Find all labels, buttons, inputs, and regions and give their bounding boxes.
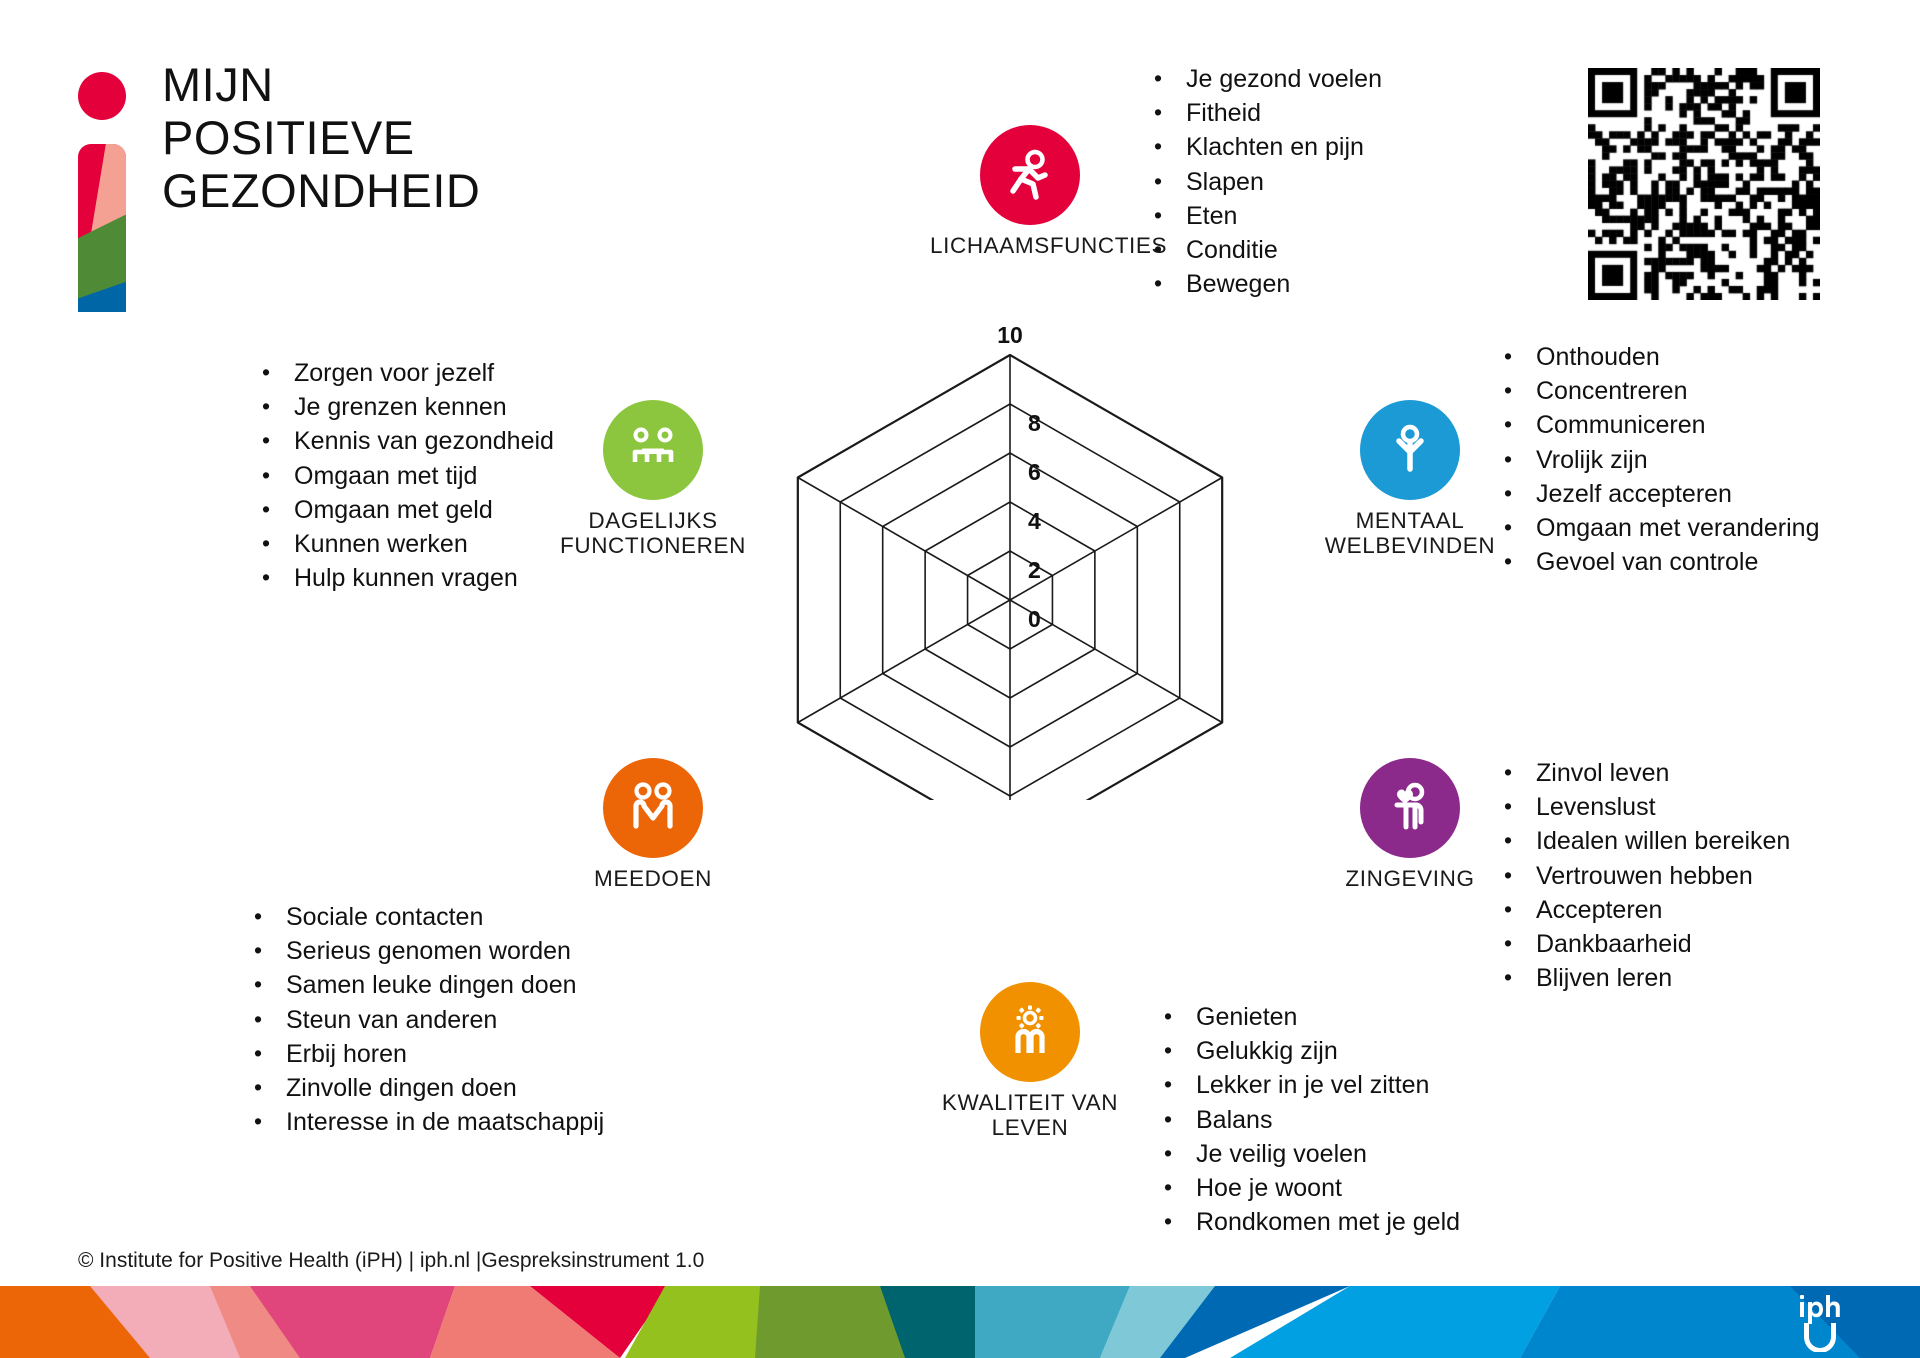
aspect-list-item: Idealen willen bereiken (1500, 824, 1790, 858)
aspect-list-item: Je veilig voelen (1160, 1137, 1460, 1171)
radar-tick-label: 10 (997, 322, 1023, 348)
aspect-list-item: Levenslust (1500, 790, 1790, 824)
domain-node-lichaamsfuncties[interactable]: LICHAAMSFUNCTIES (930, 125, 1130, 258)
two-people-holding-hands-icon (603, 758, 703, 858)
domain-label: ZINGEVING (1310, 866, 1510, 891)
radar-tick-label: 2 (1028, 557, 1041, 583)
domain-label: DAGELIJKS FUNCTIONEREN (553, 508, 753, 558)
radar-tick-label: 6 (1028, 459, 1041, 485)
iph-logo-mark (1790, 1290, 1850, 1352)
logo-dot-icon (78, 72, 126, 120)
aspect-list-item: Interesse in de maatschappij (250, 1105, 604, 1139)
radar-tick-label: 0 (1028, 606, 1041, 632)
aspect-list-kwaliteit-van-leven: GenietenGelukkig zijnLekker in je vel zi… (1160, 1000, 1460, 1239)
aspect-list-item: Je grenzen kennen (258, 390, 554, 424)
aspect-list-item: Omgaan met verandering (1500, 511, 1819, 545)
aspect-list-item: Sociale contacten (250, 900, 604, 934)
aspect-list-item: Serieus genomen worden (250, 934, 604, 968)
aspect-list-item: Kunnen werken (258, 527, 554, 561)
aspect-list-dagelijks-functioneren: Zorgen voor jezelfJe grenzen kennenKenni… (258, 356, 554, 595)
aspect-list-item: Balans (1160, 1103, 1460, 1137)
aspect-list-item: Steun van anderen (250, 1003, 604, 1037)
logo-stem-icon (78, 144, 126, 312)
aspect-list-item: Rondkomen met je geld (1160, 1205, 1460, 1239)
radar-axis-line (798, 600, 1010, 723)
aspect-list-item: Zorgen voor jezelf (258, 356, 554, 390)
radar-tick-label: 8 (1028, 410, 1041, 436)
aspect-list-mentaal-welbevinden: OnthoudenConcentrerenCommunicerenVrolijk… (1500, 340, 1819, 579)
person-arms-up-icon (1360, 400, 1460, 500)
aspect-list-item: Klachten en pijn (1150, 130, 1382, 164)
domain-node-meedoen[interactable]: MEEDOEN (553, 758, 753, 891)
aspect-list-item: Hoe je woont (1160, 1171, 1460, 1205)
domain-label: MENTAAL WELBEVINDEN (1310, 508, 1510, 558)
aspect-list-item: Accepteren (1500, 893, 1790, 927)
aspect-list-item: Omgaan met geld (258, 493, 554, 527)
aspect-list-item: Genieten (1160, 1000, 1460, 1034)
aspect-list-item: Concentreren (1500, 374, 1819, 408)
domain-label: KWALITEIT VAN LEVEN (930, 1090, 1130, 1140)
aspect-list-item: Erbij horen (250, 1037, 604, 1071)
domain-label: MEEDOEN (553, 866, 753, 891)
domain-node-kwaliteit-van-leven[interactable]: KWALITEIT VAN LEVEN (930, 982, 1130, 1140)
running-person-icon (980, 125, 1080, 225)
aspect-list-zingeving: Zinvol levenLevenslustIdealen willen ber… (1500, 756, 1790, 995)
radar-axis-line (1010, 478, 1222, 601)
aspect-list-item: Zinvolle dingen doen (250, 1071, 604, 1105)
logo-line-2: POSITIEVE (162, 111, 480, 164)
aspect-list-item: Jezelf accepteren (1500, 477, 1819, 511)
aspect-list-item: Lekker in je vel zitten (1160, 1068, 1460, 1102)
poster-canvas: MIJN POSITIEVE GEZONDHEID 1086420 LICHAA… (0, 0, 1920, 1358)
aspect-list-item: Omgaan met tijd (258, 459, 554, 493)
aspect-list-item: Zinvol leven (1500, 756, 1790, 790)
aspect-list-item: Vertrouwen hebben (1500, 859, 1790, 893)
radar-chart[interactable]: 1086420 (700, 290, 1320, 800)
color-bar-svg (0, 1286, 1920, 1358)
aspect-list-item: Je gezond voelen (1150, 62, 1382, 96)
domain-node-mentaal-welbevinden[interactable]: MENTAAL WELBEVINDEN (1310, 400, 1510, 558)
aspect-list-item: Dankbaarheid (1500, 927, 1790, 961)
aspect-list-item: Communiceren (1500, 408, 1819, 442)
logo-line-1: MIJN (162, 58, 480, 111)
radar-axis-line (798, 478, 1010, 601)
aspect-list-item: Onthouden (1500, 340, 1819, 374)
domain-node-dagelijks-functioneren[interactable]: DAGELIJKS FUNCTIONEREN (553, 400, 753, 558)
aspect-list-item: Slapen (1150, 165, 1382, 199)
aspect-list-item: Samen leuke dingen doen (250, 968, 604, 1002)
aspect-list-item: Conditie (1150, 233, 1382, 267)
person-with-heart-icon (1360, 758, 1460, 858)
radar-chart-svg: 1086420 (700, 290, 1320, 800)
logo-line-3: GEZONDHEID (162, 164, 480, 217)
aspect-list-item: Hulp kunnen vragen (258, 561, 554, 595)
decorative-color-bar (0, 1286, 1920, 1358)
aspect-list-item: Kennis van gezondheid (258, 424, 554, 458)
domain-label: LICHAAMSFUNCTIES (930, 233, 1130, 258)
domain-node-zingeving[interactable]: ZINGEVING (1310, 758, 1510, 891)
aspect-list-lichaamsfuncties: Je gezond voelenFitheidKlachten en pijnS… (1150, 62, 1382, 301)
qr-code-icon[interactable] (1588, 68, 1820, 300)
aspect-list-meedoen: Sociale contactenSerieus genomen wordenS… (250, 900, 604, 1139)
aspect-list-item: Gevoel van controle (1500, 545, 1819, 579)
aspect-list-item: Bewegen (1150, 267, 1382, 301)
aspect-list-item: Gelukkig zijn (1160, 1034, 1460, 1068)
aspect-list-item: Vrolijk zijn (1500, 443, 1819, 477)
aspect-list-item: Blijven leren (1500, 961, 1790, 995)
brand-logo: MIJN POSITIEVE GEZONDHEID (78, 58, 508, 258)
two-people-at-table-icon (603, 400, 703, 500)
copyright-text: © Institute for Positive Health (iPH) | … (78, 1249, 704, 1273)
aspect-list-item: Fitheid (1150, 96, 1382, 130)
logo-wordmark: MIJN POSITIEVE GEZONDHEID (162, 58, 480, 217)
sun-and-people-icon (980, 982, 1080, 1082)
radar-tick-label: 4 (1028, 508, 1041, 534)
radar-axis-line (1010, 600, 1222, 723)
aspect-list-item: Eten (1150, 199, 1382, 233)
